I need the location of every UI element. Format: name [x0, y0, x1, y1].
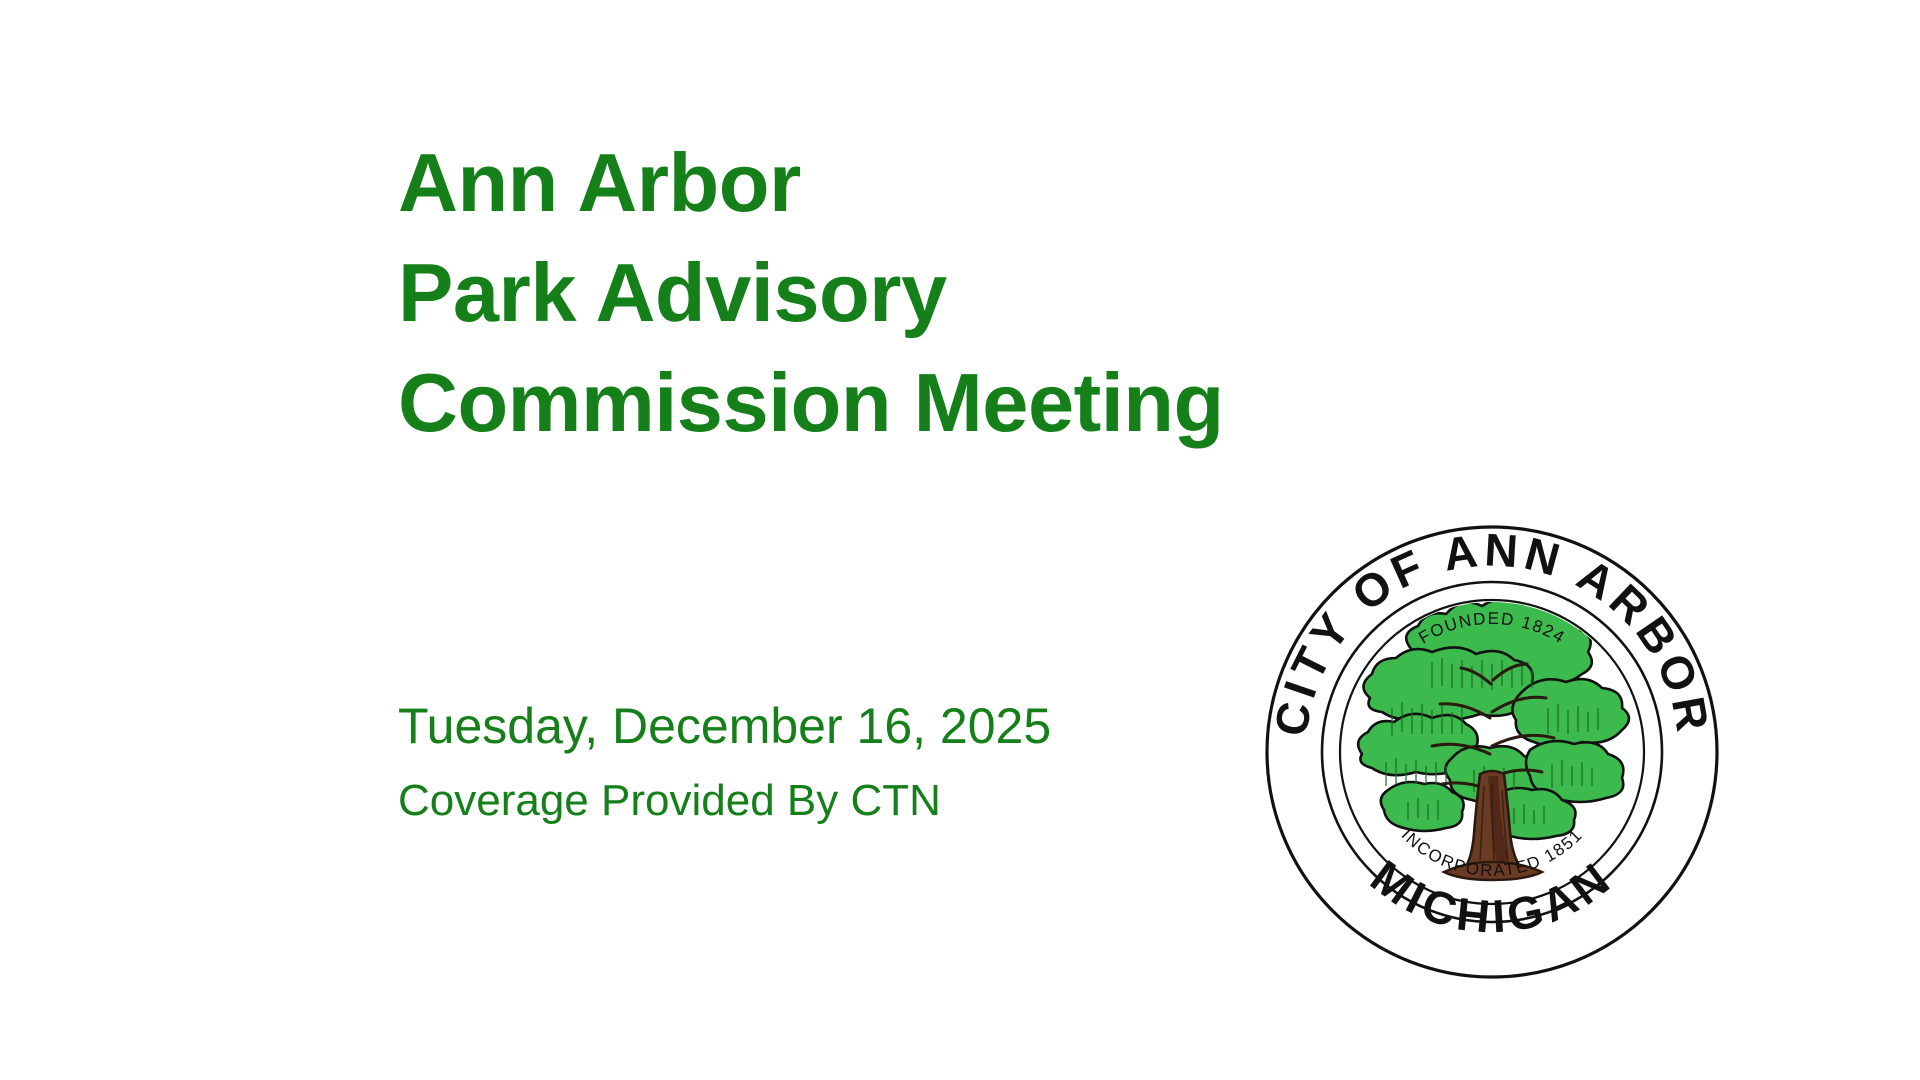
page-title: Ann Arbor Park Advisory Commission Meeti… — [398, 128, 1528, 458]
title-line-3: Commission Meeting — [398, 348, 1528, 458]
slide-root: Ann Arbor Park Advisory Commission Meeti… — [0, 0, 1920, 1080]
title-line-1: Ann Arbor — [398, 128, 1528, 238]
city-seal-icon: CITY OF ANN ARBOR MICHIGAN FOUNDED 1824 … — [1262, 522, 1722, 982]
subtitle-block: Tuesday, December 16, 2025 Coverage Prov… — [398, 695, 1298, 831]
coverage-credit: Coverage Provided By CTN — [398, 771, 1298, 831]
title-line-2: Park Advisory — [398, 238, 1528, 348]
meeting-date: Tuesday, December 16, 2025 — [398, 695, 1298, 757]
